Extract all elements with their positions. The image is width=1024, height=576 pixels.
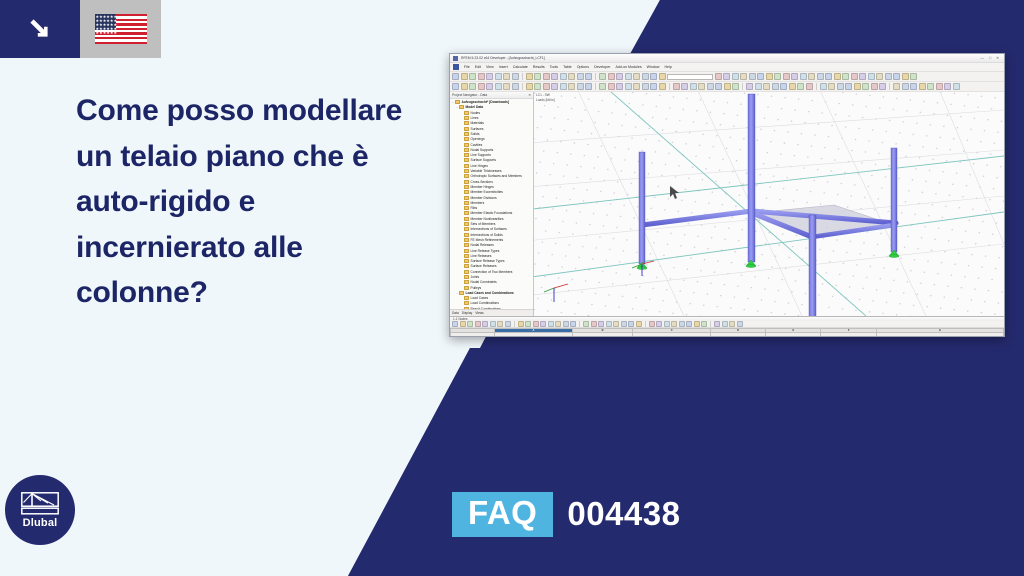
folder-icon <box>464 111 469 115</box>
tree-label: Members <box>471 201 485 205</box>
toolbar-button-icon[interactable] <box>461 83 468 90</box>
menu-bar[interactable]: File Edit View Insert Calculate Results … <box>450 63 1004 72</box>
folder-icon <box>464 116 469 120</box>
toolbar-button-icon[interactable] <box>825 73 832 80</box>
tree-label: Model Data <box>466 105 484 109</box>
window-controls[interactable]: — □ ✕ <box>980 56 1001 60</box>
nodes-table[interactable]: A B C D E F G Node No. Node Type Referen… <box>450 328 1004 337</box>
toolbar-button-icon[interactable] <box>467 321 473 327</box>
folder-icon <box>464 280 469 284</box>
toolbar-separator <box>514 321 515 327</box>
toolbar-button-icon[interactable] <box>851 73 858 80</box>
toolbar-separator <box>889 83 890 90</box>
model-viewport[interactable]: LC1 - SW Loads [kN/m] <box>534 92 1004 316</box>
flag-box: ★★★★★★ ★★★★★★ ★★★★★★ ★★★★★★ ★★★★★★ <box>80 0 161 58</box>
folder-icon <box>464 185 469 189</box>
toolbar-separator <box>645 321 646 327</box>
workspace: Project Navigator - Data ✕ −Aufzugsschac… <box>450 92 1004 316</box>
faq-number: 004438 <box>567 495 680 533</box>
tree-label: Lines <box>471 116 479 120</box>
page-title: Come posso modellare un telaio piano che… <box>76 88 406 316</box>
menu-item-window[interactable]: Window <box>647 65 660 69</box>
toolbar-button-icon[interactable] <box>936 83 943 90</box>
th-node-no: Node No. <box>451 332 495 337</box>
toolbar-button-icon[interactable] <box>698 83 705 90</box>
toolbar-button-icon[interactable] <box>540 321 546 327</box>
toolbar-button-icon[interactable] <box>460 321 466 327</box>
folder-icon <box>464 143 469 147</box>
toolbar-button-icon[interactable] <box>568 73 575 80</box>
toolbar-button-icon[interactable] <box>797 83 804 90</box>
navigator-tree[interactable]: −Aufzugsschacht* [Downloads]−Model DataN… <box>450 99 533 310</box>
toolbar-button-icon[interactable] <box>642 73 649 80</box>
toolbar-button-icon[interactable] <box>585 83 592 90</box>
toolbar-button-icon[interactable] <box>486 83 493 90</box>
menu-item-file[interactable]: File <box>464 65 470 69</box>
toolbar-button-icon[interactable] <box>746 83 753 90</box>
toolbar-button-icon[interactable] <box>525 321 531 327</box>
toolbar-separator <box>742 83 743 90</box>
th-z: Z [m] <box>821 332 876 337</box>
tree-label: Intersections of Solids <box>471 233 503 237</box>
navigator-tabs[interactable]: Data Display Views <box>450 309 533 316</box>
tree-label: Load Combinations <box>471 301 499 305</box>
folder-icon <box>464 238 469 242</box>
folder-icon <box>464 222 469 226</box>
tree-label: Aufzugsschacht* [Downloads] <box>462 100 509 104</box>
navigator-tab-views[interactable]: Views <box>475 311 483 315</box>
folder-icon <box>464 180 469 184</box>
th-x: X [m] <box>710 332 765 337</box>
toolbar-button-icon[interactable] <box>740 73 747 80</box>
toolbar-button-icon[interactable] <box>633 83 640 90</box>
toolbar-button-icon[interactable] <box>902 83 909 90</box>
toolbar-button-icon[interactable] <box>774 73 781 80</box>
toolbar-button-icon[interactable] <box>714 321 720 327</box>
navigator-title: Project Navigator - Data <box>452 93 487 97</box>
tree-label: Nodal Constraints <box>471 280 497 284</box>
toolbar-button-icon[interactable] <box>585 73 592 80</box>
menu-item-edit[interactable]: Edit <box>475 65 481 69</box>
tree-label: Load Cases <box>471 296 489 300</box>
tree-label: Nodal Supports <box>471 148 494 152</box>
toolbar-button-icon[interactable] <box>659 83 666 90</box>
toolbar-button-icon[interactable] <box>879 83 886 90</box>
toolbar-button-icon[interactable] <box>681 83 688 90</box>
toolbar-button-icon[interactable] <box>837 83 844 90</box>
menu-item-tools[interactable]: Tools <box>550 65 558 69</box>
toolbar-button-icon[interactable] <box>577 83 584 90</box>
toolbar-button-icon[interactable] <box>577 73 584 80</box>
toolbar-button-icon[interactable] <box>486 73 493 80</box>
folder-icon <box>464 158 469 162</box>
toolbar-button-icon[interactable] <box>664 321 670 327</box>
toolbar-button-icon[interactable] <box>452 321 458 327</box>
toolbar-button-icon[interactable] <box>534 83 541 90</box>
project-navigator-panel[interactable]: Project Navigator - Data ✕ −Aufzugsschac… <box>450 92 534 316</box>
toolbar-button-icon[interactable] <box>534 73 541 80</box>
toolbar-button-icon[interactable] <box>701 321 707 327</box>
toolbar-button-icon[interactable] <box>482 321 488 327</box>
folder-icon <box>464 121 469 125</box>
tree-label: Line Release Types <box>471 249 500 253</box>
menu-item-options[interactable]: Options <box>577 65 589 69</box>
navigator-tab-data[interactable]: Data <box>452 311 459 315</box>
menu-item-results[interactable]: Results <box>533 65 545 69</box>
toolbar-button-icon[interactable] <box>563 321 569 327</box>
toolbar-button-icon[interactable] <box>845 83 852 90</box>
toolbar-button-icon[interactable] <box>583 321 589 327</box>
toolbar-button-icon[interactable] <box>616 83 623 90</box>
toolbar-button-icon[interactable] <box>599 83 606 90</box>
toolbar-button-icon[interactable] <box>806 83 813 90</box>
secondary-toolbar[interactable] <box>450 82 1004 92</box>
toolbar-button-icon[interactable] <box>551 83 558 90</box>
toolbar-button-icon[interactable] <box>828 83 835 90</box>
us-flag-icon: ★★★★★★ ★★★★★★ ★★★★★★ ★★★★★★ ★★★★★★ <box>95 14 147 44</box>
tree-label: Surface Supports <box>471 158 496 162</box>
toolbar-button-icon[interactable] <box>518 321 524 327</box>
toolbar-button-icon[interactable] <box>707 83 714 90</box>
tree-label: Load Cases and Combinations <box>466 291 514 295</box>
tree-label: Surfaces <box>471 127 484 131</box>
arrow-down-right-icon <box>25 14 55 44</box>
toolbar-button-icon[interactable] <box>650 73 657 80</box>
toolbar-button-icon[interactable] <box>871 83 878 90</box>
folder-icon <box>464 233 469 237</box>
toolbar-button-icon[interactable] <box>543 73 550 80</box>
folder-icon <box>464 259 469 263</box>
folder-icon <box>464 137 469 141</box>
th-y: Y [m] <box>766 332 821 337</box>
toolbar-button-icon[interactable] <box>613 321 619 327</box>
folder-icon <box>464 169 469 173</box>
top-left-badge-bar: ★★★★★★ ★★★★★★ ★★★★★★ ★★★★★★ ★★★★★★ <box>0 0 161 58</box>
toolbar-separator <box>710 321 711 327</box>
toolbar-button-icon[interactable] <box>817 73 824 80</box>
toolbar-button-icon[interactable] <box>893 83 900 90</box>
rfem-application-window[interactable]: RFEM 5.23.02 x64 Developer - [Aufzugssch… <box>449 53 1005 337</box>
menu-item-developer[interactable]: Developer <box>594 65 610 69</box>
toolbar-button-icon[interactable] <box>859 73 866 80</box>
toolbar-button-icon[interactable] <box>526 73 533 80</box>
toolbar-button-icon[interactable] <box>570 321 576 327</box>
toolbar-button-icon[interactable] <box>560 73 567 80</box>
folder-icon <box>464 206 469 210</box>
toolbar-button-icon[interactable] <box>732 73 739 80</box>
tree-label: Solids <box>471 132 480 136</box>
window-title: RFEM 5.23.02 x64 Developer - [Aufzugssch… <box>461 56 977 60</box>
toolbar-button-icon[interactable] <box>656 321 662 327</box>
toolbar-button-icon[interactable] <box>503 73 510 80</box>
table-header-row: Node No. Node Type Reference Node Coordi… <box>451 332 1004 337</box>
toolbar-button-icon[interactable] <box>944 83 951 90</box>
toolbar-button-icon[interactable] <box>628 321 634 327</box>
dlubal-truss-icon <box>21 492 59 515</box>
tree-label: Line Supports <box>471 153 491 157</box>
toolbar-button-icon[interactable] <box>910 73 917 80</box>
toolbar-button-icon[interactable] <box>789 83 796 90</box>
toolbar-button-icon[interactable] <box>555 321 561 327</box>
toolbar-button-icon[interactable] <box>533 321 539 327</box>
toolbar-button-icon[interactable] <box>876 73 883 80</box>
toolbar-separator <box>522 73 523 80</box>
tree-label: Sets of Members <box>471 222 496 226</box>
toolbar-button-icon[interactable] <box>686 321 692 327</box>
toolbar-separator <box>595 73 596 80</box>
toolbar-button-icon[interactable] <box>490 321 496 327</box>
toolbar-button-icon[interactable] <box>478 83 485 90</box>
toolbar-button-icon[interactable] <box>625 73 632 80</box>
tree-label: Connection of Two Members <box>471 270 513 274</box>
folder-icon <box>464 190 469 194</box>
faq-row: FAQ 004438 <box>452 492 680 537</box>
toolbar-button-icon[interactable] <box>659 73 666 80</box>
folder-icon <box>455 100 460 104</box>
tree-label: Cross-Sections <box>471 180 493 184</box>
rfem-app-icon <box>453 56 458 61</box>
folder-icon <box>459 105 464 109</box>
toolbar-button-icon[interactable] <box>608 73 615 80</box>
tree-label: Joints <box>471 275 480 279</box>
tree-label: Line Releases <box>471 254 492 258</box>
toolbar-button-icon[interactable] <box>862 83 869 90</box>
tree-label: Variable Thicknesses <box>471 169 502 173</box>
th-node-type: Node Type <box>495 332 572 337</box>
tree-label: Surface Release Types <box>471 259 505 263</box>
maximize-icon[interactable]: □ <box>989 56 991 60</box>
viewport-label-loads: Loads [kN/m] <box>536 98 1002 103</box>
tree-label: Member Hinges <box>471 185 494 189</box>
toolbar-button-icon[interactable] <box>766 73 773 80</box>
toolbar-button-icon[interactable] <box>885 73 892 80</box>
toolbar-button-icon[interactable] <box>910 83 917 90</box>
dlubal-logo[interactable]: Dlubal <box>5 475 75 545</box>
toolbar-button-icon[interactable] <box>551 73 558 80</box>
folder-icon <box>464 301 469 305</box>
toolbar-button-icon[interactable] <box>633 73 640 80</box>
tree-label: FE Mesh Refinements <box>471 238 504 242</box>
toolbar-button-icon[interactable] <box>512 83 519 90</box>
toolbar-button-icon[interactable] <box>732 83 739 90</box>
toolbar-button-icon[interactable] <box>543 83 550 90</box>
toolbar-button-icon[interactable] <box>650 83 657 90</box>
folder-icon <box>464 127 469 131</box>
toolbar-button-icon[interactable] <box>475 321 481 327</box>
folder-icon <box>464 174 469 178</box>
toolbar-button-icon[interactable] <box>642 83 649 90</box>
tree-label: Orthotropic Surfaces and Members <box>471 174 522 178</box>
toolbar-button-icon[interactable] <box>842 73 849 80</box>
folder-icon <box>464 164 469 168</box>
tree-label: Ribs <box>471 206 478 210</box>
toolbar-button-icon[interactable] <box>671 321 677 327</box>
toolbar-button-icon[interactable] <box>800 73 807 80</box>
tree-label: Member Elastic Foundations <box>471 211 513 215</box>
menu-item-help[interactable]: Help <box>664 65 671 69</box>
folder-icon <box>459 291 464 295</box>
arrow-down-right-box <box>0 0 80 58</box>
model-3d-canvas[interactable] <box>534 92 1004 316</box>
faq-badge: FAQ <box>452 492 553 537</box>
toolbar-button-icon[interactable] <box>772 83 779 90</box>
th-comment: Comment <box>876 332 1003 337</box>
close-icon[interactable]: ✕ <box>996 56 999 60</box>
tree-label: Pulleys <box>471 286 482 290</box>
toolbar-button-icon[interactable] <box>649 321 655 327</box>
folder-icon <box>464 148 469 152</box>
menu-item-view[interactable]: View <box>486 65 494 69</box>
toolbar-button-icon[interactable] <box>820 83 827 90</box>
toolbar-button-icon[interactable] <box>763 83 770 90</box>
tree-label: Nodes <box>471 111 481 115</box>
folder-icon <box>464 196 469 200</box>
viewport-labels: LC1 - SW Loads [kN/m] <box>534 92 1004 103</box>
toolbar-button-icon[interactable] <box>495 83 502 90</box>
tree-label: Materials <box>471 121 484 125</box>
toolbar-button-icon[interactable] <box>715 83 722 90</box>
table-panel[interactable]: 1.1 Nodes A B C D E F G <box>450 316 1004 337</box>
navigator-close-icon[interactable]: ✕ <box>528 93 531 97</box>
toolbar-button-icon[interactable] <box>791 73 798 80</box>
toolbar-button-icon[interactable] <box>919 83 926 90</box>
toolbar-button-icon[interactable] <box>560 83 567 90</box>
toolbar-separator <box>579 321 580 327</box>
toolbar-button-icon[interactable] <box>503 83 510 90</box>
tree-label: Member Nonlinearities <box>471 217 504 221</box>
folder-icon <box>464 275 469 279</box>
toolbar-button-icon[interactable] <box>625 83 632 90</box>
toolbar-button-icon[interactable] <box>893 73 900 80</box>
toolbar-button-icon[interactable] <box>568 83 575 90</box>
folder-icon <box>464 243 469 247</box>
toolbar-button-icon[interactable] <box>854 83 861 90</box>
toolbar-separator <box>816 83 817 90</box>
toolbar-button-icon[interactable] <box>616 73 623 80</box>
toolbar-button-icon[interactable] <box>452 73 459 80</box>
load-case-combo[interactable] <box>667 74 713 80</box>
toolbar-button-icon[interactable] <box>469 83 476 90</box>
table-grid-wrapper[interactable]: A B C D E F G Node No. Node Type Referen… <box>450 328 1004 337</box>
menu-item-table[interactable]: Table <box>563 65 572 69</box>
tree-label: Member Divisions <box>471 196 497 200</box>
tree-label: Member Eccentricities <box>471 190 503 194</box>
toolbar-button-icon[interactable] <box>469 73 476 80</box>
toolbar-button-icon[interactable] <box>755 83 762 90</box>
tree-label: Line Hinges <box>471 164 488 168</box>
folder-icon <box>464 264 469 268</box>
toolbar-button-icon[interactable] <box>780 83 787 90</box>
toolbar-button-icon[interactable] <box>902 73 909 80</box>
toolbar-separator <box>595 83 596 90</box>
folder-icon <box>464 217 469 221</box>
folder-icon <box>464 153 469 157</box>
main-toolbar[interactable] <box>450 72 1004 82</box>
window-titlebar: RFEM 5.23.02 x64 Developer - [Aufzugssch… <box>450 54 1004 63</box>
dlubal-logo-text: Dlubal <box>23 517 58 529</box>
toolbar-button-icon[interactable] <box>606 321 612 327</box>
folder-icon <box>464 211 469 215</box>
tree-label: Nodal Releases <box>471 243 494 247</box>
toolbar-button-icon[interactable] <box>591 321 597 327</box>
toolbar-button-icon[interactable] <box>808 73 815 80</box>
toolbar-button-icon[interactable] <box>621 321 627 327</box>
toolbar-button-icon[interactable] <box>749 73 756 80</box>
toolbar-button-icon[interactable] <box>783 73 790 80</box>
tree-label: Cavities <box>471 143 483 147</box>
menu-item-calculate[interactable]: Calculate <box>513 65 528 69</box>
th-ref-node: Reference Node <box>572 332 633 337</box>
toolbar-button-icon[interactable] <box>497 321 503 327</box>
menu-item-addons[interactable]: Add-on Modules <box>615 65 641 69</box>
folder-icon <box>464 132 469 136</box>
tree-label: Openings <box>471 137 485 141</box>
menu-app-icon <box>453 64 459 70</box>
toolbar-button-icon[interactable] <box>953 83 960 90</box>
toolbar-button-icon[interactable] <box>834 73 841 80</box>
toolbar-button-icon[interactable] <box>737 321 743 327</box>
toolbar-separator <box>522 83 523 90</box>
toolbar-button-icon[interactable] <box>495 73 502 80</box>
toolbar-button-icon[interactable] <box>452 83 459 90</box>
toolbar-button-icon[interactable] <box>723 73 730 80</box>
toolbar-button-icon[interactable] <box>715 73 722 80</box>
toolbar-button-icon[interactable] <box>690 83 697 90</box>
toolbar-button-icon[interactable] <box>729 321 735 327</box>
minimize-icon[interactable]: — <box>980 56 984 60</box>
folder-icon <box>464 286 469 290</box>
toolbar-button-icon[interactable] <box>526 83 533 90</box>
folder-icon <box>464 270 469 274</box>
toolbar-button-icon[interactable] <box>927 83 934 90</box>
folder-icon <box>464 254 469 258</box>
toolbar-button-icon[interactable] <box>505 321 511 327</box>
folder-icon <box>464 201 469 205</box>
toolbar-button-icon[interactable] <box>757 73 764 80</box>
folder-icon <box>464 249 469 253</box>
menu-item-insert[interactable]: Insert <box>499 65 508 69</box>
toolbar-button-icon[interactable] <box>599 73 606 80</box>
toolbar-button-icon[interactable] <box>694 321 700 327</box>
navigator-tab-display[interactable]: Display <box>462 311 472 315</box>
toolbar-separator <box>669 83 670 90</box>
th-coord-sys: Coordinate System <box>633 332 710 337</box>
toolbar-button-icon[interactable] <box>724 83 731 90</box>
tree-label: Intersections of Surfaces <box>471 227 507 231</box>
toolbar-button-icon[interactable] <box>679 321 685 327</box>
toolbar-button-icon[interactable] <box>598 321 604 327</box>
toolbar-button-icon[interactable] <box>868 73 875 80</box>
toolbar-button-icon[interactable] <box>608 83 615 90</box>
tree-label: Surface Releases <box>471 264 497 268</box>
toolbar-button-icon[interactable] <box>722 321 728 327</box>
toolbar-button-icon[interactable] <box>673 83 680 90</box>
toolbar-button-icon[interactable] <box>636 321 642 327</box>
toolbar-button-icon[interactable] <box>548 321 554 327</box>
toolbar-button-icon[interactable] <box>461 73 468 80</box>
toolbar-button-icon[interactable] <box>512 73 519 80</box>
toolbar-button-icon[interactable] <box>478 73 485 80</box>
folder-icon <box>464 296 469 300</box>
folder-icon <box>464 227 469 231</box>
